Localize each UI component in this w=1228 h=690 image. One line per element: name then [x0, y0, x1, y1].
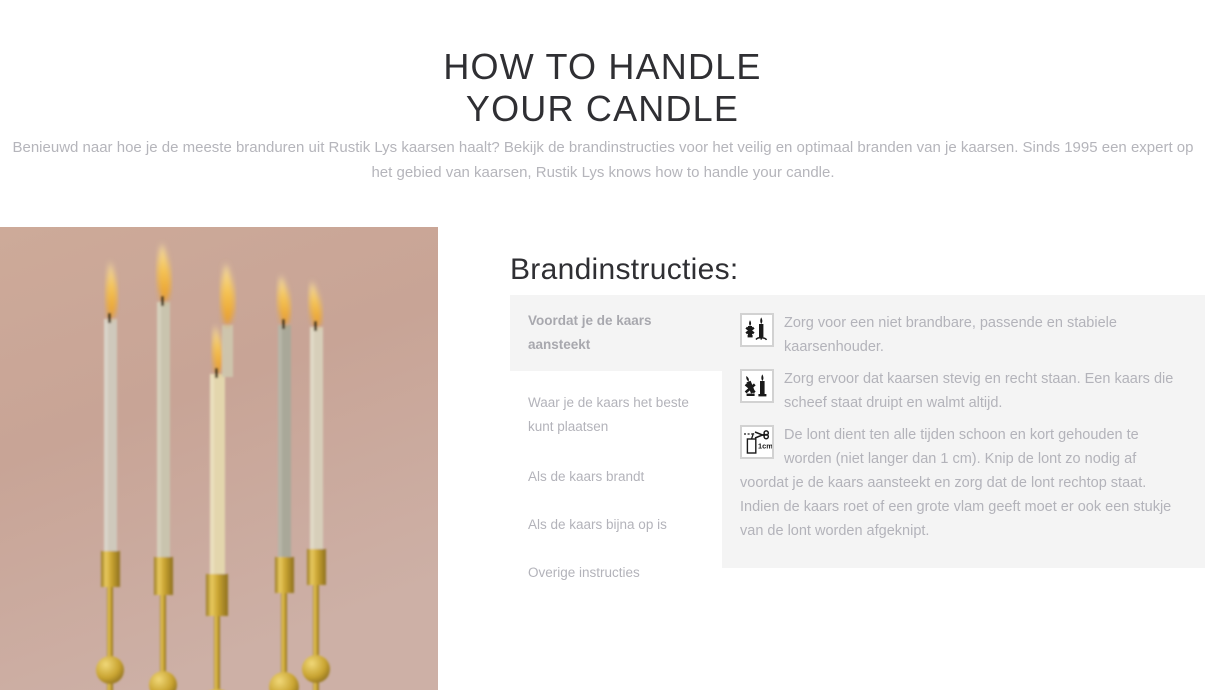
candle-holder-stable-icon [740, 313, 774, 347]
icon-measure-label: 1cm [758, 441, 772, 450]
tab-als-de-kaars-bijna-op-is[interactable]: Als de kaars bijna op is [510, 501, 722, 549]
accordion-panel-content: Zorg voor een niet brandbare, passende e… [722, 295, 1205, 568]
tab-label: Waar je de kaars het beste kunt plaatsen [528, 395, 689, 434]
instruction-item: 1cm De lont dient ten alle tijden schoon… [740, 423, 1183, 543]
candles-photo [0, 227, 438, 690]
instruction-item: Zorg ervoor dat kaarsen stevig en recht … [740, 367, 1183, 415]
tab-overige-instructies[interactable]: Overige instructies [510, 549, 722, 597]
accordion-tab-list: Voordat je de kaars aansteekt Waar je de… [510, 295, 722, 568]
wick-trim-scissors-icon: 1cm [740, 425, 774, 459]
section-heading: Brandinstructies: [510, 250, 739, 290]
tab-voordat-je-de-kaars-aansteekt[interactable]: Voordat je de kaars aansteekt [510, 295, 722, 371]
candle-upright-icon [740, 369, 774, 403]
page-title-line-1: HOW TO HANDLE [443, 46, 761, 87]
tab-als-de-kaars-brandt[interactable]: Als de kaars brandt [510, 453, 722, 501]
tab-label: Als de kaars brandt [528, 469, 644, 484]
brandinstructies-accordion: Voordat je de kaars aansteekt Waar je de… [510, 295, 1205, 568]
page-root: HOW TO HANDLE YOUR CANDLE Benieuwd naar … [0, 0, 1228, 690]
instruction-item: Zorg voor een niet brandbare, passende e… [740, 311, 1183, 359]
tab-waar-je-de-kaars-het-beste-kunt-plaatsen[interactable]: Waar je de kaars het beste kunt plaatsen [510, 371, 722, 453]
tab-label: Als de kaars bijna op is [528, 517, 667, 532]
page-title: HOW TO HANDLE YOUR CANDLE [0, 46, 1205, 130]
instruction-text: Zorg ervoor dat kaarsen stevig en recht … [740, 367, 1183, 415]
page-title-line-2: YOUR CANDLE [0, 88, 1205, 130]
tab-label: Overige instructies [528, 565, 640, 580]
instruction-text: Zorg voor een niet brandbare, passende e… [740, 311, 1183, 359]
tab-label: Voordat je de kaars aansteekt [528, 313, 652, 352]
page-subtitle: Benieuwd naar hoe je de meeste branduren… [8, 135, 1198, 185]
instruction-text: De lont dient ten alle tijden schoon en … [740, 423, 1183, 543]
